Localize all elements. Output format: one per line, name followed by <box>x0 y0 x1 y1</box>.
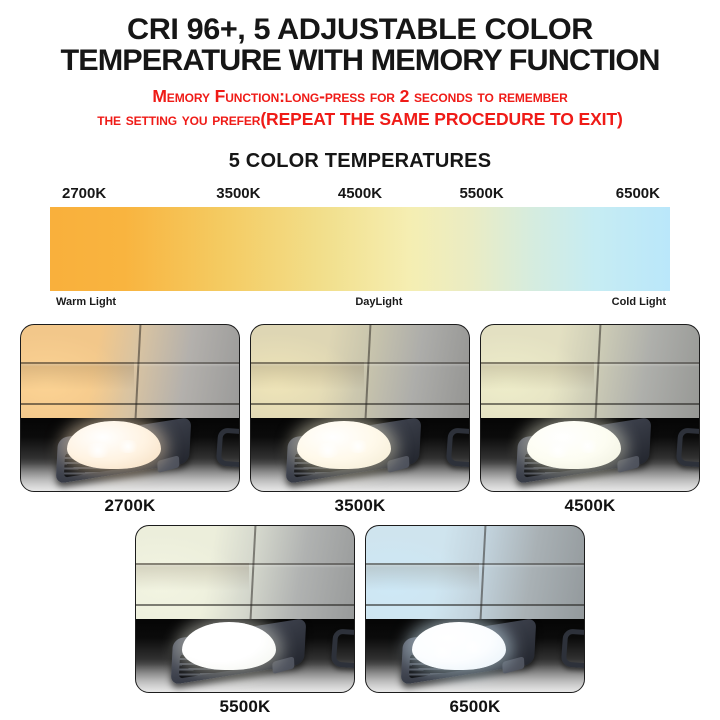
legend-cold-light: Cold Light <box>612 296 666 308</box>
lamp-stage-region <box>251 418 469 491</box>
dome-hotspot-right <box>116 440 140 453</box>
headline-line-2: TEMPERATURE WITH MEMORY FUNCTION <box>0 45 720 76</box>
bracket-arm-loop <box>216 427 239 470</box>
bracket-arm-loop <box>446 427 469 470</box>
color-temperature-gradient-bar <box>50 207 670 291</box>
panel-seam-upper <box>481 362 699 364</box>
bracket-arm-loop <box>561 628 584 671</box>
panel-seam-lower <box>136 604 354 606</box>
header: CRI 96+, 5 ADJUSTABLE COLOR TEMPERATURE … <box>0 0 720 130</box>
dome-hotspot-left <box>544 443 572 457</box>
dome-hotspot-right <box>231 641 255 654</box>
memory-note-line-2: the setting you prefer(REPEAT THE SAME P… <box>28 108 692 130</box>
car-panel-region <box>481 325 699 418</box>
sample-photo <box>20 324 240 492</box>
led-dome-lamp <box>412 622 506 670</box>
dome-hotspot-right <box>576 440 600 453</box>
sample-caption: 5500K <box>135 697 355 717</box>
car-panel-region <box>366 526 584 619</box>
panel-shadow-band <box>136 563 249 591</box>
scale-tick-6500k: 6500K <box>542 185 664 202</box>
sample-photo-grid: 2700K3500K4500K 5500K6500K <box>0 324 720 717</box>
sample-caption: 4500K <box>480 496 700 516</box>
sample-row-bottom: 5500K6500K <box>0 525 720 717</box>
panel-seam-lower <box>366 604 584 606</box>
lamp-stage-region <box>21 418 239 491</box>
page-title: CRI 96+, 5 ADJUSTABLE COLOR TEMPERATURE … <box>0 14 720 76</box>
legend-daylight: DayLight <box>355 296 402 308</box>
scale-tick-3500k: 3500K <box>178 185 300 202</box>
sample-card: 3500K <box>250 324 470 516</box>
bracket-arm-loop <box>331 628 354 671</box>
sample-photo <box>365 525 585 693</box>
memory-note-line-1: Memory Function:long-press for 2 seconds… <box>28 85 692 107</box>
memory-function-note: Memory Function:long-press for 2 seconds… <box>0 85 720 130</box>
dome-hotspot-left <box>314 443 342 457</box>
led-dome-lamp <box>297 421 391 469</box>
led-dome-lamp <box>182 622 276 670</box>
car-panel-region <box>136 526 354 619</box>
panel-seam-lower <box>251 403 469 405</box>
sample-card: 4500K <box>480 324 700 516</box>
sample-photo <box>250 324 470 492</box>
panel-seam-upper <box>251 362 469 364</box>
led-dome-lamp <box>67 421 161 469</box>
sample-card: 2700K <box>20 324 240 516</box>
dome-hotspot-left <box>429 644 457 658</box>
panel-seam-upper <box>366 563 584 565</box>
panel-shadow-band <box>21 362 134 390</box>
dome-hotspot-right <box>346 440 370 453</box>
panel-seam-lower <box>481 403 699 405</box>
dome-hotspot-right <box>461 641 485 654</box>
scale-tick-2700k: 2700K <box>56 185 178 202</box>
color-temperature-scale: 2700K 3500K 4500K 5500K 6500K Warm Light… <box>50 185 670 308</box>
dome-hotspot-left <box>84 443 112 457</box>
panel-seam-lower <box>21 403 239 405</box>
scale-tick-5500k: 5500K <box>421 185 543 202</box>
scale-tick-4500k: 4500K <box>299 185 421 202</box>
sample-card: 6500K <box>365 525 585 717</box>
sample-photo <box>135 525 355 693</box>
scale-legend: Warm Light DayLight Cold Light <box>50 291 670 308</box>
led-dome-lamp <box>527 421 621 469</box>
legend-warm-light: Warm Light <box>56 296 116 308</box>
dome-hotspot-left <box>199 644 227 658</box>
sample-caption: 2700K <box>20 496 240 516</box>
headline-line-1: CRI 96+, 5 ADJUSTABLE COLOR <box>127 13 593 46</box>
scale-tick-labels: 2700K 3500K 4500K 5500K 6500K <box>50 185 670 207</box>
lamp-stage-region <box>366 619 584 692</box>
panel-shadow-band <box>251 362 364 390</box>
car-panel-region <box>21 325 239 418</box>
sample-photo <box>480 324 700 492</box>
panel-shadow-band <box>481 362 594 390</box>
panel-seam-upper <box>136 563 354 565</box>
sample-caption: 6500K <box>365 697 585 717</box>
sample-caption: 3500K <box>250 496 470 516</box>
sample-row-top: 2700K3500K4500K <box>0 324 720 516</box>
sample-card: 5500K <box>135 525 355 717</box>
panel-shadow-band <box>366 563 479 591</box>
panel-seam-upper <box>21 362 239 364</box>
bracket-arm-loop <box>676 427 699 470</box>
lamp-stage-region <box>136 619 354 692</box>
lamp-stage-region <box>481 418 699 491</box>
section-title-color-temperatures: 5 COLOR TEMPERATURES <box>0 150 720 173</box>
car-panel-region <box>251 325 469 418</box>
